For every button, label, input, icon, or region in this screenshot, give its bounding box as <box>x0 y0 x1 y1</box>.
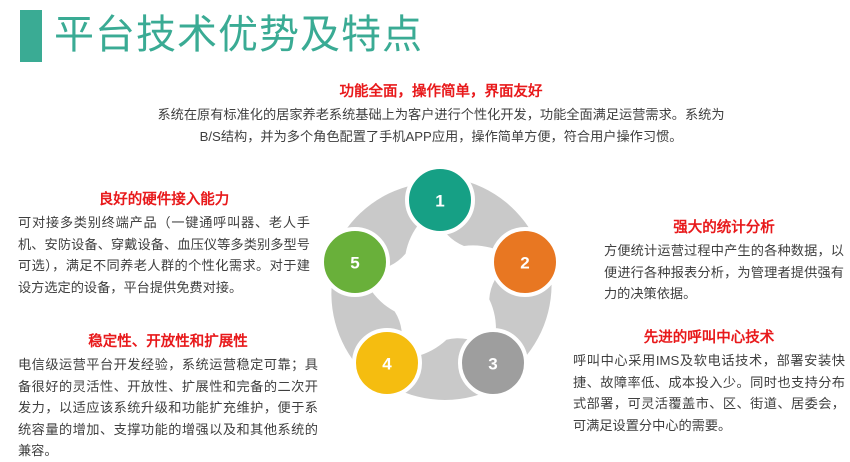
diagram-node-2[interactable]: 2 <box>492 229 558 295</box>
feature-block-2-body: 方便统计运营过程中产生的各种数据，以便进行各种报表分析，为管理者提供强有力的决策… <box>604 240 844 305</box>
page-header: 平台技术优势及特点 <box>0 0 850 72</box>
feature-block-5-heading: 良好的硬件接入能力 <box>18 190 310 210</box>
diagram-node-3[interactable]: 3 <box>460 330 526 396</box>
feature-block-4-heading: 稳定性、开放性和扩展性 <box>18 332 318 352</box>
diagram-node-2-label: 2 <box>520 254 529 273</box>
feature-block-4-body: 电信级运营平台开发经验，系统运营稳定可靠；具备很好的灵活性、开放性、扩展性和完备… <box>18 354 318 462</box>
feature-block-1-heading: 功能全面，操作简单，界面友好 <box>148 82 734 102</box>
title-accent-bar <box>20 10 42 62</box>
feature-block-5: 良好的硬件接入能力 可对接多类别终端产品（一键通呼叫器、老人手机、安防设备、穿戴… <box>18 190 310 298</box>
feature-block-2-heading: 强大的统计分析 <box>604 218 844 238</box>
page-title: 平台技术优势及特点 <box>54 6 423 64</box>
feature-block-3-body: 呼叫中心采用IMS及软电话技术，部署安装快捷、故障率低、成本投入少。同时也支持分… <box>573 350 845 436</box>
feature-block-2: 强大的统计分析 方便统计运营过程中产生的各种数据，以便进行各种报表分析，为管理者… <box>604 218 844 305</box>
diagram-node-5[interactable]: 5 <box>322 229 388 295</box>
diagram-node-1-label: 1 <box>435 192 444 211</box>
feature-block-5-body: 可对接多类别终端产品（一键通呼叫器、老人手机、安防设备、穿戴设备、血压仪等多类别… <box>18 212 310 298</box>
diagram-node-3-label: 3 <box>488 355 497 374</box>
feature-block-4: 稳定性、开放性和扩展性 电信级运营平台开发经验，系统运营稳定可靠；具备很好的灵活… <box>18 332 318 462</box>
pentagon-cycle-diagram: 1 2 3 4 5 <box>289 139 591 441</box>
diagram-node-4[interactable]: 4 <box>354 330 420 396</box>
diagram-node-1[interactable]: 1 <box>407 167 473 233</box>
feature-block-1: 功能全面，操作简单，界面友好 系统在原有标准化的居家养老系统基础上为客户进行个性… <box>148 82 734 147</box>
feature-block-3-heading: 先进的呼叫中心技术 <box>573 328 845 348</box>
diagram-node-4-label: 4 <box>382 355 392 374</box>
feature-block-3: 先进的呼叫中心技术 呼叫中心采用IMS及软电话技术，部署安装快捷、故障率低、成本… <box>573 328 845 436</box>
diagram-node-5-label: 5 <box>350 254 359 273</box>
feature-block-1-body: 系统在原有标准化的居家养老系统基础上为客户进行个性化开发，功能全面满足运营需求。… <box>148 104 734 147</box>
